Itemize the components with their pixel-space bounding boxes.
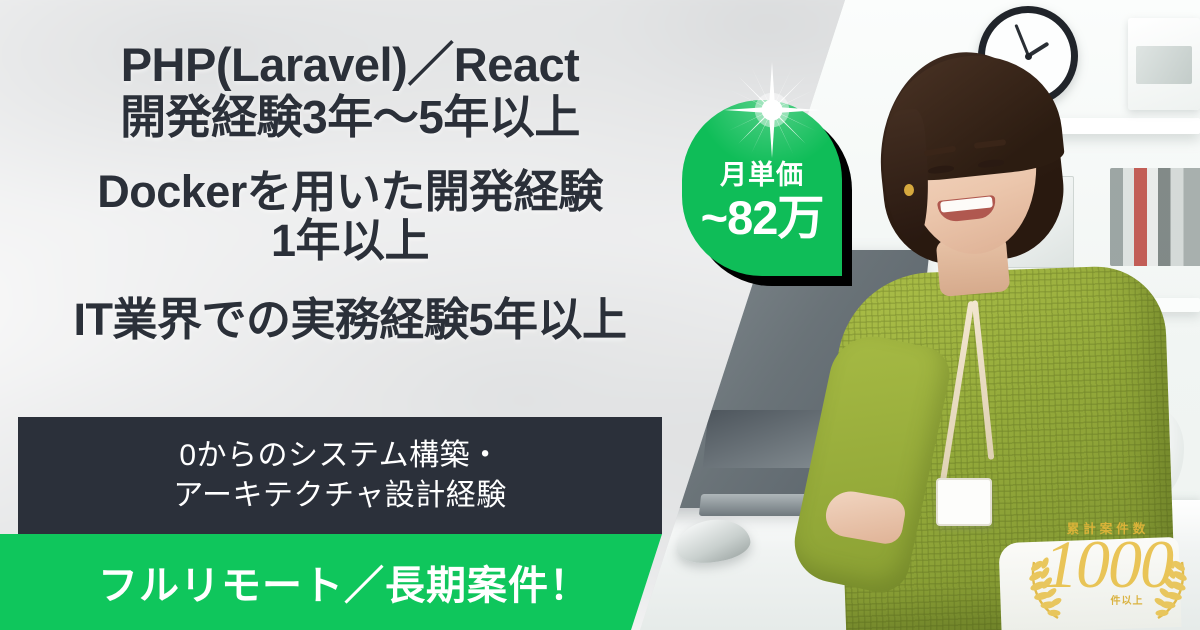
clock-center-pin	[1025, 53, 1032, 60]
badge-body: 月単価 ~82万	[682, 100, 842, 276]
remote-work-green-bar: フルリモート／長期案件！	[0, 534, 680, 630]
headline-line-2: 開発経験3年〜5年以上	[120, 93, 580, 143]
monthly-rate-badge: 月単価 ~82万	[682, 100, 842, 276]
id-badge-card	[936, 478, 992, 526]
dark-box-line-1: 0からのシステム構築・	[179, 436, 500, 476]
headline-line-3: Dockerを用いた開発経験	[97, 168, 603, 217]
picture-frame	[1128, 18, 1200, 110]
clock-minute-hand	[1014, 24, 1030, 57]
seal-sub-label: 件以上	[1082, 592, 1172, 607]
headline-line-4: 1年以上	[271, 217, 429, 266]
woman-earring	[904, 184, 914, 196]
badge-price-value: ~82万	[701, 194, 824, 241]
headline-line-1: PHP(Laravel)／React	[121, 40, 580, 91]
badge-label: 月単価	[720, 153, 804, 192]
green-bar-label: フルリモート／長期案件！	[98, 553, 590, 611]
achievement-seal: 累計案件数 1000 件以上	[1022, 518, 1194, 624]
dark-box-line-2: アーキテクチャ設計経験	[173, 476, 506, 516]
requirements-dark-box: 0からのシステム構築・ アーキテクチャ設計経験	[18, 417, 662, 534]
headline-group: PHP(Laravel)／React 開発経験3年〜5年以上 Dockerを用い…	[0, 0, 700, 400]
seal-count-number: 1000	[1022, 530, 1194, 598]
headline-line-5: IT業界での実務経験5年以上	[73, 296, 626, 345]
job-ad-banner: PHP(Laravel)／React 開発経験3年〜5年以上 Dockerを用い…	[0, 0, 1200, 630]
bookshelf-books	[1110, 168, 1200, 266]
